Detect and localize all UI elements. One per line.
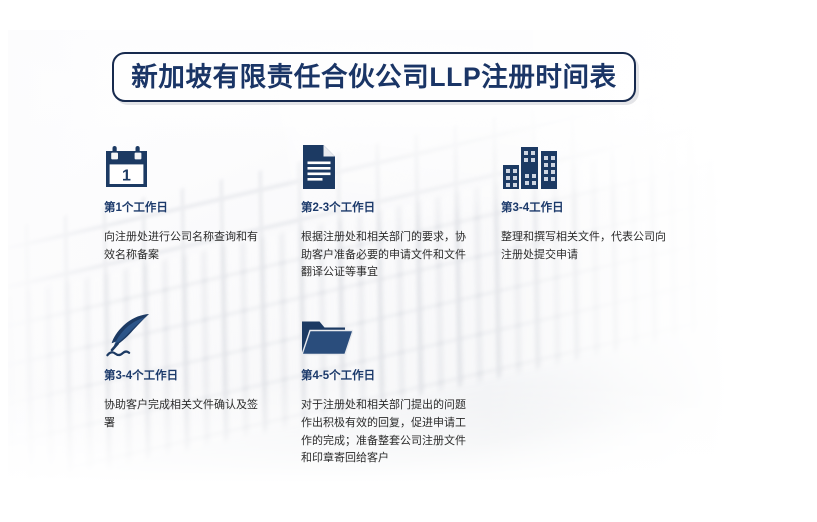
timeline-step: 第3-4工作日 整理和撰写相关文件，代表公司向注册处提交申请 [501,142,701,282]
timeline-step: 1 第1个工作日 向注册处进行公司名称查询和有效名称备案 [104,142,301,282]
step-description: 协助客户完成相关文件确认及签署 [104,397,268,433]
step-description: 根据注册处和相关部门的要求，协助客户准备必要的申请文件和文件翻译公证等事宜 [301,229,467,282]
calendar-icon: 1 [104,142,301,190]
step-description: 整理和撰写相关文件，代表公司向注册处提交申请 [501,229,671,265]
step-heading: 第3-4个工作日 [104,370,301,384]
buildings-icon [501,142,701,190]
document-icon [301,142,501,190]
timeline-step: 第4-5个工作日 对于注册处和相关部门提出的问题作出积极有效的回复，促进申请工作… [301,310,501,468]
step-heading: 第3-4工作日 [501,202,701,216]
page-title: 新加坡有限责任合伙公司LLP注册时间表 [131,64,616,91]
step-heading: 第1个工作日 [104,202,301,216]
timeline-steps-grid: 1 第1个工作日 向注册处进行公司名称查询和有效名称备案 [104,142,704,468]
step-heading: 第4-5个工作日 [301,370,501,384]
quill-pen-icon [104,310,301,358]
calendar-day-number: 1 [122,168,131,185]
timeline-step: 第3-4个工作日 协助客户完成相关文件确认及签署 [104,310,301,468]
content-background-area: 新加坡有限责任合伙公司LLP注册时间表 1 第1个工作 [8,30,729,483]
step-description: 向注册处进行公司名称查询和有效名称备案 [104,229,268,265]
page-title-box: 新加坡有限责任合伙公司LLP注册时间表 [112,52,636,102]
folder-icon [301,310,501,358]
step-heading: 第2-3个工作日 [301,202,501,216]
step-description: 对于注册处和相关部门提出的问题作出积极有效的回复，促进申请工作的完成；准备整套公… [301,397,467,468]
timeline-step: 第2-3个工作日 根据注册处和相关部门的要求，协助客户准备必要的申请文件和文件翻… [301,142,501,282]
